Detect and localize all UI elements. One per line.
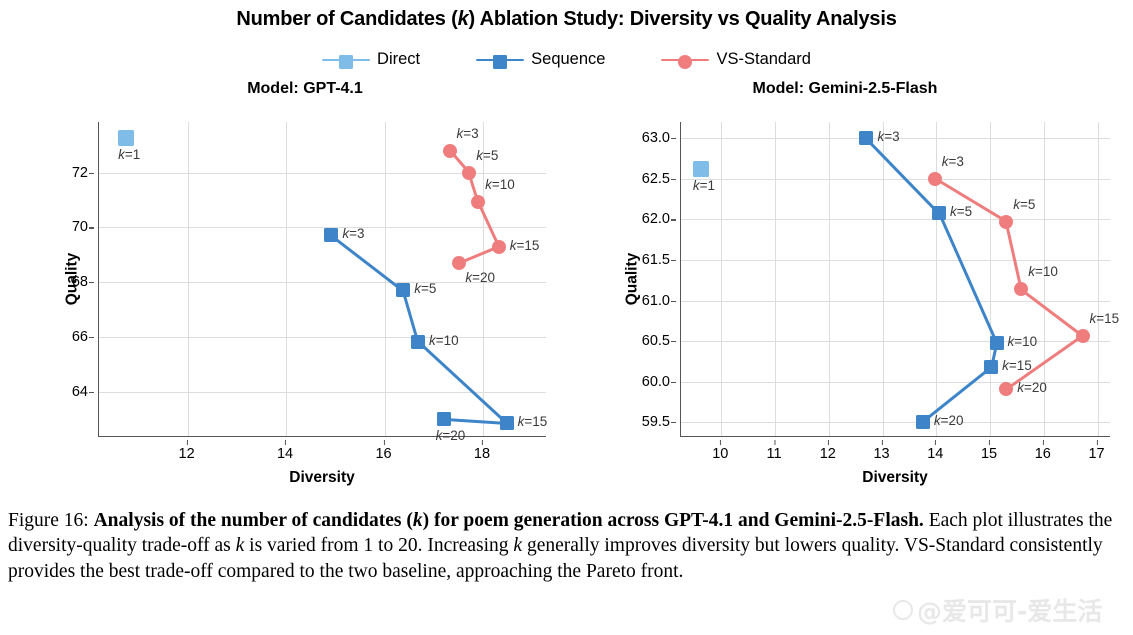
data-point-marker[interactable] (500, 416, 514, 430)
x-axis-tick-mark (285, 440, 286, 445)
gridline-vertical (990, 122, 991, 436)
data-point-marker[interactable] (411, 335, 425, 349)
x-axis-tick-mark (774, 440, 775, 445)
data-point-marker[interactable] (324, 228, 338, 242)
point-label-k: k (693, 178, 700, 193)
y-axis-tick-mark (89, 392, 94, 393)
x-axis-tick-label: 12 (179, 446, 195, 462)
data-point-marker[interactable] (916, 415, 930, 429)
x-axis-tick-label: 12 (820, 446, 836, 462)
y-axis-tick-label: 62.0 (642, 211, 670, 227)
plot-area: k=1k=3k=5k=10k=15k=20k=3k=5k=10k=15k=20 (680, 122, 1110, 437)
gridline-horizontal (99, 337, 546, 338)
data-point-label: k=10 (429, 333, 459, 348)
gridline-vertical (883, 122, 884, 436)
gridline-vertical (721, 122, 722, 436)
point-label-value: =15 (524, 414, 547, 429)
data-point-label: k=3 (942, 154, 964, 169)
data-point-marker[interactable] (1076, 329, 1090, 343)
legend-marker-square-icon (476, 52, 524, 68)
y-axis-label: Quality (623, 252, 641, 305)
y-axis-tick-mark (671, 138, 676, 139)
y-axis-tick-label: 62.5 (642, 171, 670, 187)
x-axis-tick-label: 17 (1088, 446, 1104, 462)
point-label-k: k (1002, 358, 1009, 373)
data-point-label: k=10 (1008, 334, 1038, 349)
x-axis-tick-mark (882, 440, 883, 445)
data-point-label: k=5 (950, 204, 972, 219)
y-axis-tick-label: 72 (72, 165, 88, 181)
gridline-horizontal (681, 422, 1110, 423)
data-point-marker[interactable] (396, 283, 410, 297)
point-label-value: =5 (1020, 197, 1035, 212)
x-axis-tick-mark (1043, 440, 1044, 445)
gridline-vertical (936, 122, 937, 436)
point-label-value: =5 (483, 148, 498, 163)
x-axis-label: Diversity (98, 469, 546, 487)
y-axis-tick-label: 61.0 (642, 293, 670, 309)
gridline-vertical (188, 122, 189, 436)
point-label-value: =5 (957, 204, 972, 219)
data-point-label: k=5 (476, 148, 498, 163)
legend-label: Direct (377, 50, 420, 69)
series-line-segment (1005, 222, 1023, 290)
data-point-label: k=3 (457, 126, 479, 141)
y-axis-tick-mark (89, 173, 94, 174)
point-label-k: k (950, 204, 957, 219)
data-point-label: k=20 (465, 270, 495, 285)
data-point-marker[interactable] (999, 215, 1013, 229)
data-point-label: k=20 (1017, 380, 1047, 395)
gridline-horizontal (99, 227, 546, 228)
point-label-value: =1 (700, 178, 715, 193)
watermark-text: @爱可可-爱生活 (917, 592, 1102, 628)
point-label-k: k (118, 147, 125, 162)
point-label-value: =10 (1035, 264, 1058, 279)
weibo-watermark: @爱可可-爱生活 (893, 592, 1102, 628)
x-axis-tick-label: 14 (277, 446, 293, 462)
point-label-value: =20 (941, 413, 964, 428)
x-axis-tick-label: 18 (474, 446, 490, 462)
y-axis-tick-mark (89, 337, 94, 338)
gridline-horizontal (99, 173, 546, 174)
data-point-label: k=15 (510, 238, 540, 253)
subplot-title-gpt41: Model: GPT-4.1 (120, 80, 490, 98)
data-point-marker[interactable] (471, 195, 485, 209)
legend-label: VS-Standard (716, 50, 810, 69)
x-axis-tick-label: 10 (712, 446, 728, 462)
legend-marker-glyph (339, 55, 353, 69)
y-axis-tick-mark (671, 260, 676, 261)
data-point-label: k=10 (485, 177, 515, 192)
x-axis-tick-mark (482, 440, 483, 445)
data-point-label: k=3 (342, 226, 364, 241)
chart-legend: DirectSequenceVS-Standard (0, 50, 1133, 69)
x-axis-tick-mark (187, 440, 188, 445)
x-axis-label: Diversity (680, 469, 1110, 487)
point-label-value: =20 (442, 428, 465, 443)
data-point-label: k=15 (1090, 311, 1120, 326)
data-point-label: k=15 (1002, 358, 1032, 373)
data-point-marker[interactable] (492, 240, 506, 254)
data-point-marker[interactable] (443, 144, 457, 158)
y-axis-tick-mark (671, 422, 676, 423)
figure-title: Number of Candidates (k) Ablation Study:… (0, 8, 1133, 31)
x-axis-tick-label: 11 (767, 446, 782, 462)
data-point-label: k=20 (934, 413, 964, 428)
point-label-value: =3 (463, 126, 478, 141)
legend-marker-glyph (678, 55, 692, 69)
data-point-label: k=15 (518, 414, 548, 429)
figure-caption: Figure 16: Analysis of the number of can… (8, 508, 1126, 584)
x-axis-tick-mark (828, 440, 829, 445)
series-line-segment (1020, 288, 1083, 337)
y-axis-tick-label: 63.0 (642, 130, 670, 146)
data-point-marker[interactable] (462, 166, 476, 180)
point-label-value: =3 (884, 129, 899, 144)
y-axis-tick-label: 64 (72, 384, 88, 400)
y-axis-label: Quality (63, 252, 81, 305)
data-point-label: k=3 (877, 129, 899, 144)
point-label-value: =10 (436, 333, 459, 348)
x-axis-tick-mark (720, 440, 721, 445)
point-label-value: =15 (517, 238, 540, 253)
point-label-k: k (1017, 380, 1024, 395)
weibo-logo-icon (893, 600, 913, 620)
point-label-value: =3 (948, 154, 963, 169)
gridline-vertical (286, 122, 287, 436)
y-axis-tick-mark (89, 227, 94, 228)
point-label-k: k (510, 238, 517, 253)
series-line-segment (444, 418, 507, 425)
x-axis-tick-label: 14 (927, 446, 943, 462)
y-axis-tick-label: 70 (72, 219, 88, 235)
x-axis-tick-mark (384, 440, 385, 445)
gridline-horizontal (681, 219, 1110, 220)
legend-entry-direct[interactable]: Direct (322, 50, 420, 69)
series-line-segment (417, 341, 508, 425)
y-axis-tick-label: 61.5 (642, 252, 670, 268)
data-point-marker[interactable] (118, 130, 134, 146)
data-point-marker[interactable] (693, 161, 709, 177)
y-axis-tick-label: 59.5 (642, 414, 670, 430)
data-point-marker[interactable] (984, 360, 998, 374)
y-axis-tick-mark (89, 282, 94, 283)
point-label-value: =1 (125, 147, 140, 162)
figure-root: Number of Candidates (k) Ablation Study:… (0, 0, 1133, 635)
data-point-marker[interactable] (990, 336, 1004, 350)
data-point-marker[interactable] (437, 412, 451, 426)
point-label-k: k (1013, 197, 1020, 212)
data-point-marker[interactable] (928, 172, 942, 186)
point-label-k: k (1028, 264, 1035, 279)
plot-panel-gpt41: k=1k=3k=5k=10k=15k=20k=3k=5k=10k=15k=206… (18, 100, 538, 500)
legend-marker-square-icon (322, 52, 370, 68)
data-point-label: k=20 (436, 428, 466, 443)
gridline-horizontal (681, 260, 1110, 261)
x-axis-tick-mark (989, 440, 990, 445)
point-label-value: =10 (1014, 334, 1037, 349)
y-axis-tick-label: 66 (72, 329, 88, 345)
gridline-horizontal (681, 179, 1110, 180)
legend-label: Sequence (531, 50, 605, 69)
point-label-k: k (485, 177, 492, 192)
point-label-value: =20 (472, 270, 495, 285)
point-label-value: =15 (1096, 311, 1119, 326)
data-point-marker[interactable] (859, 131, 873, 145)
plot-panel-gemini: k=1k=3k=5k=10k=15k=20k=3k=5k=10k=15k=205… (578, 100, 1130, 500)
y-axis-tick-mark (671, 219, 676, 220)
y-axis-tick-mark (671, 301, 676, 302)
legend-marker-circle-icon (661, 52, 709, 68)
x-axis-tick-label: 16 (375, 446, 391, 462)
data-point-label: k=5 (1013, 197, 1035, 212)
point-label-k: k (414, 281, 421, 296)
data-point-marker[interactable] (999, 382, 1013, 396)
series-line-segment (938, 212, 998, 343)
data-point-marker[interactable] (452, 256, 466, 270)
gridline-vertical (775, 122, 776, 436)
y-axis-tick-label: 60.0 (642, 374, 670, 390)
gridline-horizontal (99, 392, 546, 393)
legend-entry-sequence[interactable]: Sequence (476, 50, 605, 69)
point-label-k: k (429, 333, 436, 348)
data-point-label: k=5 (414, 281, 436, 296)
y-axis-tick-mark (671, 179, 676, 180)
x-axis-tick-mark (935, 440, 936, 445)
x-axis-tick-label: 15 (981, 446, 997, 462)
point-label-value: =3 (349, 226, 364, 241)
data-point-label: k=1 (118, 147, 140, 162)
data-point-label: k=1 (693, 178, 715, 193)
gridline-vertical (829, 122, 830, 436)
x-axis-tick-label: 16 (1035, 446, 1051, 462)
legend-entry-vs-standard[interactable]: VS-Standard (661, 50, 810, 69)
y-axis-tick-mark (671, 382, 676, 383)
x-axis-tick-mark (1097, 440, 1098, 445)
data-point-marker[interactable] (1014, 282, 1028, 296)
x-axis-tick-label: 13 (873, 446, 889, 462)
y-axis-tick-mark (671, 341, 676, 342)
title-k-symbol: k (458, 8, 469, 30)
point-label-k: k (934, 413, 941, 428)
point-label-k: k (476, 148, 483, 163)
gridline-horizontal (681, 301, 1110, 302)
point-label-value: =10 (492, 177, 515, 192)
point-label-value: =20 (1024, 380, 1047, 395)
point-label-value: =5 (421, 281, 436, 296)
plot-area: k=1k=3k=5k=10k=15k=20k=3k=5k=10k=15k=20 (98, 122, 546, 437)
data-point-marker[interactable] (932, 206, 946, 220)
subplot-title-gemini: Model: Gemini-2.5-Flash (660, 80, 1030, 98)
data-point-label: k=10 (1028, 264, 1058, 279)
legend-marker-glyph (493, 55, 507, 69)
gridline-vertical (1098, 122, 1099, 436)
gridline-horizontal (681, 341, 1110, 342)
y-axis-tick-label: 60.5 (642, 333, 670, 349)
